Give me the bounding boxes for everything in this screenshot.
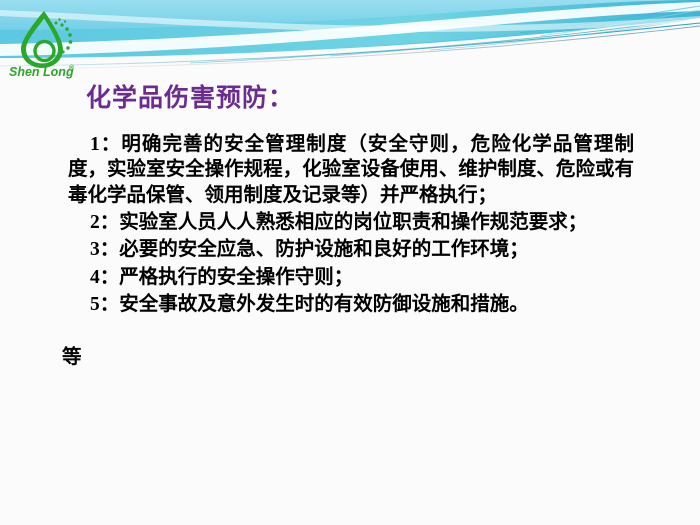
decorative-wave-banner [0,0,700,90]
body-trailing-text: 等 [62,345,82,370]
list-item: 5：安全事故及意外发生时的有效防御设施和措施。 [68,292,634,317]
shen-long-logo: Shen Long ® [6,6,92,80]
list-item: 2：实验室人员人人熟悉相应的岗位职责和操作规范要求； [68,210,634,235]
list-item: 4：严格执行的安全操作守则； [68,265,634,290]
logo-graphic: Shen Long ® [6,6,92,80]
page-title: 化学品伤害预防： [86,78,294,114]
logo-registered-mark: ® [69,64,75,72]
droplet-inner-circle-icon [35,42,54,61]
logo-wordmark: Shen Long [9,65,74,79]
body-content: 1：明确完善的安全管理制度（安全守则，危险化学品管理制度，实验室安全操作规程，化… [68,132,634,317]
list-item: 3：必要的安全应急、防护设施和良好的工作环境； [68,237,634,262]
wave-graphic [0,0,700,90]
slide-canvas: Shen Long ® 化学品伤害预防： 1：明确完善的安全管理制度（安全守则，… [0,0,700,525]
list-item: 1：明确完善的安全管理制度（安全守则，危险化学品管理制度，实验室安全操作规程，化… [68,132,634,208]
